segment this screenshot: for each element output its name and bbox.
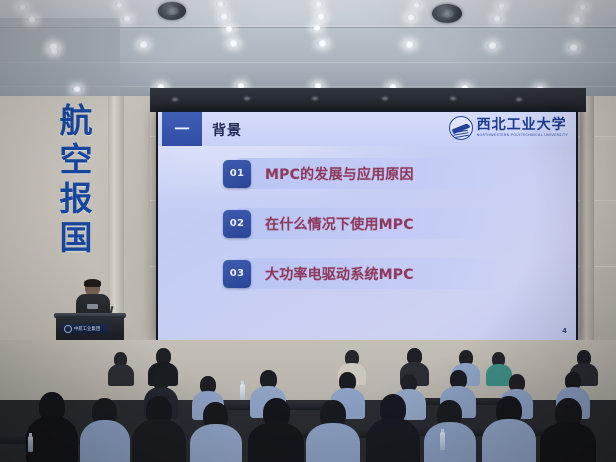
item-number-badge: 01 xyxy=(223,160,251,188)
ceiling-light xyxy=(122,15,132,22)
audience-member xyxy=(248,398,304,462)
ceiling-light xyxy=(412,2,421,8)
ceiling-light xyxy=(228,40,239,47)
ceiling-light xyxy=(216,1,225,7)
lecture-hall-photo: 航 空 报 国 一 背景 西北工业大学 xyxy=(0,0,616,462)
ceiling-light xyxy=(404,41,415,48)
ceiling-light xyxy=(406,14,416,21)
podium-logo-icon xyxy=(64,325,72,333)
ceiling-light xyxy=(316,13,326,20)
item-label: MPC的发展与应用原因 xyxy=(265,164,414,184)
ceiling-light xyxy=(492,15,502,22)
podium-sign-text: 中航工业集团 xyxy=(74,325,100,332)
item-number: 02 xyxy=(230,218,245,229)
ceiling-vent xyxy=(158,2,186,20)
presentation-slide: 一 背景 西北工业大学 NORTHWESTERN POLYTECHNICAL U… xyxy=(158,112,576,340)
ceiling-vent xyxy=(432,4,462,23)
wall-slogan-char: 航 xyxy=(60,104,93,137)
ceiling-light xyxy=(497,3,506,9)
list-item: 03 大功率电驱动系统MPC xyxy=(236,258,498,289)
ceiling-light xyxy=(138,41,149,48)
university-logo: 西北工业大学 NORTHWESTERN POLYTECHNICAL UNIVER… xyxy=(449,116,568,140)
ceiling-light xyxy=(578,4,587,10)
chapter-number-box: 一 xyxy=(162,112,202,146)
wall-slogan-char: 报 xyxy=(60,182,93,215)
audience-member xyxy=(482,396,536,462)
wall-slogan: 航 空 报 国 xyxy=(52,104,100,254)
audience xyxy=(0,340,616,462)
slide-page-number: 4 xyxy=(562,327,567,335)
agenda-list: 01 MPC的发展与应用原因 02 在什么情况下使用MPC 03 大功率电驱动系… xyxy=(158,158,576,308)
water-bottle xyxy=(440,432,445,450)
chapter-number: 一 xyxy=(174,122,189,137)
audience-member xyxy=(132,396,186,462)
ceiling-light xyxy=(572,16,582,23)
ceiling-light xyxy=(487,42,498,49)
ceiling-light xyxy=(27,16,37,23)
podium-sign: 中航工业集团 xyxy=(62,324,108,333)
ceiling-light xyxy=(314,1,323,7)
wall-slogan-char: 空 xyxy=(60,143,93,176)
ceiling-light xyxy=(115,2,124,8)
item-label: 大功率电驱动系统MPC xyxy=(265,264,414,284)
ceiling-light xyxy=(224,26,234,32)
ceiling-light xyxy=(312,25,322,31)
audience-member xyxy=(306,400,360,462)
npu-emblem-icon xyxy=(449,116,473,140)
item-number-badge: 02 xyxy=(223,210,251,238)
list-item: 01 MPC的发展与应用原因 xyxy=(236,158,498,189)
audience-member xyxy=(190,402,242,462)
item-number: 03 xyxy=(230,268,245,279)
audience-member xyxy=(80,398,130,462)
slide-header: 一 背景 西北工业大学 NORTHWESTERN POLYTECHNICAL U… xyxy=(158,112,576,146)
screen-backdrop xyxy=(150,88,586,112)
logo-name-cn: 西北工业大学 xyxy=(477,118,568,132)
audience-member xyxy=(26,392,78,462)
slide-title: 背景 xyxy=(212,120,242,140)
item-number-badge: 03 xyxy=(223,260,251,288)
water-bottle xyxy=(240,384,245,400)
wall-column-right xyxy=(580,96,594,346)
audience-member xyxy=(540,398,596,462)
item-label: 在什么情况下使用MPC xyxy=(265,214,414,234)
item-number: 01 xyxy=(230,168,245,179)
ceiling-light xyxy=(317,40,328,47)
list-item: 02 在什么情况下使用MPC xyxy=(236,208,498,239)
ceiling-light xyxy=(568,44,579,51)
logo-name-en: NORTHWESTERN POLYTECHNICAL UNIVERSITY xyxy=(477,134,568,138)
water-bottle xyxy=(28,436,33,452)
ceiling-light xyxy=(219,13,229,20)
ceiling-light xyxy=(72,86,82,92)
wall-slogan-char: 国 xyxy=(60,221,93,254)
audience-member xyxy=(366,394,420,462)
audience-member xyxy=(424,400,476,462)
projection-screen: 一 背景 西北工业大学 NORTHWESTERN POLYTECHNICAL U… xyxy=(156,110,578,342)
audience-member xyxy=(108,352,134,384)
ceiling-light xyxy=(18,4,27,10)
